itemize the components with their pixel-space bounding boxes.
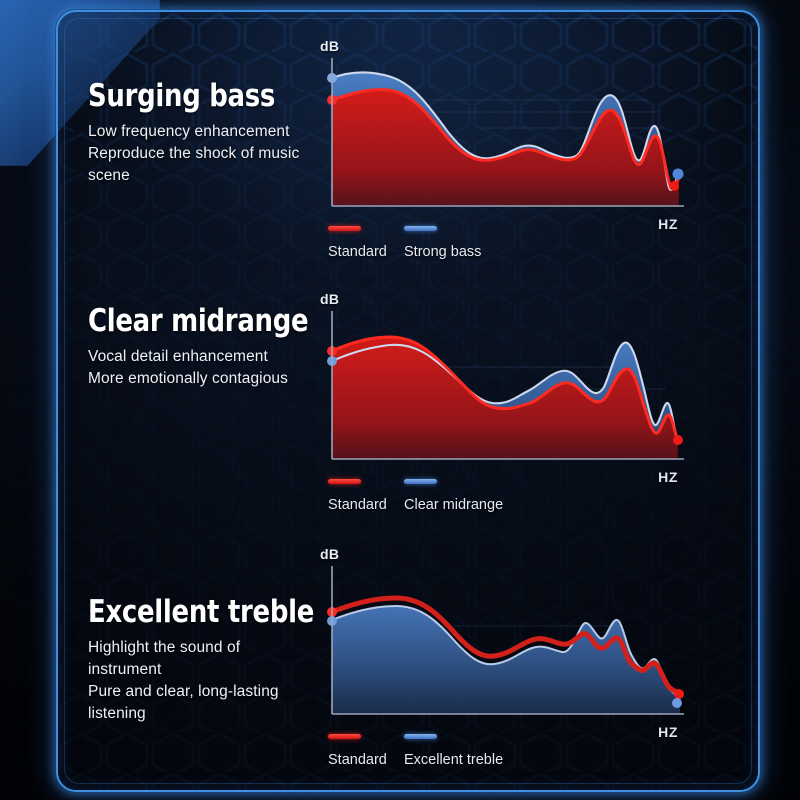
description-line: listening [88, 703, 328, 725]
y-axis-label: dB [320, 546, 339, 562]
description-line: Low frequency enhancement [88, 121, 328, 143]
chart-plot-area [318, 564, 684, 724]
description-line: Vocal detail enhancement [88, 346, 328, 368]
legend-label-standard: Standard [328, 497, 387, 513]
series-area-standard [332, 90, 679, 206]
description-line: scene [88, 165, 328, 187]
frequency-response-chart: dB HZ [318, 291, 688, 521]
chart-plot-area [318, 56, 684, 216]
frequency-response-chart: dB HZ [318, 546, 688, 776]
feature-section-surging-bass: Surging bass Low frequency enhancement R… [0, 18, 800, 278]
y-axis-label: dB [320, 38, 339, 54]
description-line: Reproduce the shock of music [88, 143, 328, 165]
data-point-marker [673, 169, 684, 180]
section-description: Highlight the sound of instrument Pure a… [88, 637, 328, 725]
section-description: Low frequency enhancement Reproduce the … [88, 121, 328, 187]
legend-dash-variant [404, 226, 437, 231]
data-point-marker [669, 181, 679, 191]
legend-dash-standard [328, 734, 361, 739]
legend-label-standard: Standard [328, 244, 387, 260]
frequency-response-chart: dB HZ [318, 38, 688, 268]
legend-label-standard: Standard [328, 752, 387, 768]
description-line: More emotionally contagious [88, 368, 328, 390]
data-point-marker [673, 435, 683, 445]
feature-section-excellent-treble: Excellent treble Highlight the sound of … [0, 538, 800, 788]
section-text-block: Excellent treble Highlight the sound of … [88, 596, 328, 725]
data-point-marker [674, 689, 684, 699]
x-axis-label: HZ [658, 469, 678, 485]
legend-dash-variant [404, 734, 437, 739]
x-axis-label: HZ [658, 724, 678, 740]
legend-dash-variant [404, 479, 437, 484]
feature-section-clear-midrange: Clear midrange Vocal detail enhancement … [0, 283, 800, 538]
legend-label-variant: Excellent treble [404, 752, 503, 768]
description-line: instrument [88, 659, 328, 681]
section-heading: Surging bass [88, 80, 311, 112]
data-point-marker [672, 698, 682, 708]
section-text-block: Clear midrange Vocal detail enhancement … [88, 305, 328, 390]
legend-dash-standard [328, 226, 361, 231]
legend-dash-standard [328, 479, 361, 484]
section-description: Vocal detail enhancement More emotionall… [88, 346, 328, 390]
content-root: Surging bass Low frequency enhancement R… [0, 0, 800, 800]
legend-label-variant: Strong bass [404, 244, 481, 260]
x-axis-label: HZ [658, 216, 678, 232]
section-heading: Clear midrange [88, 305, 311, 337]
description-line: Highlight the sound of [88, 637, 328, 659]
section-heading: Excellent treble [88, 596, 311, 628]
description-line: Pure and clear, long-lasting [88, 681, 328, 703]
section-text-block: Surging bass Low frequency enhancement R… [88, 80, 328, 187]
y-axis-label: dB [320, 291, 339, 307]
legend-label-variant: Clear midrange [404, 497, 503, 513]
chart-plot-area [318, 309, 684, 469]
